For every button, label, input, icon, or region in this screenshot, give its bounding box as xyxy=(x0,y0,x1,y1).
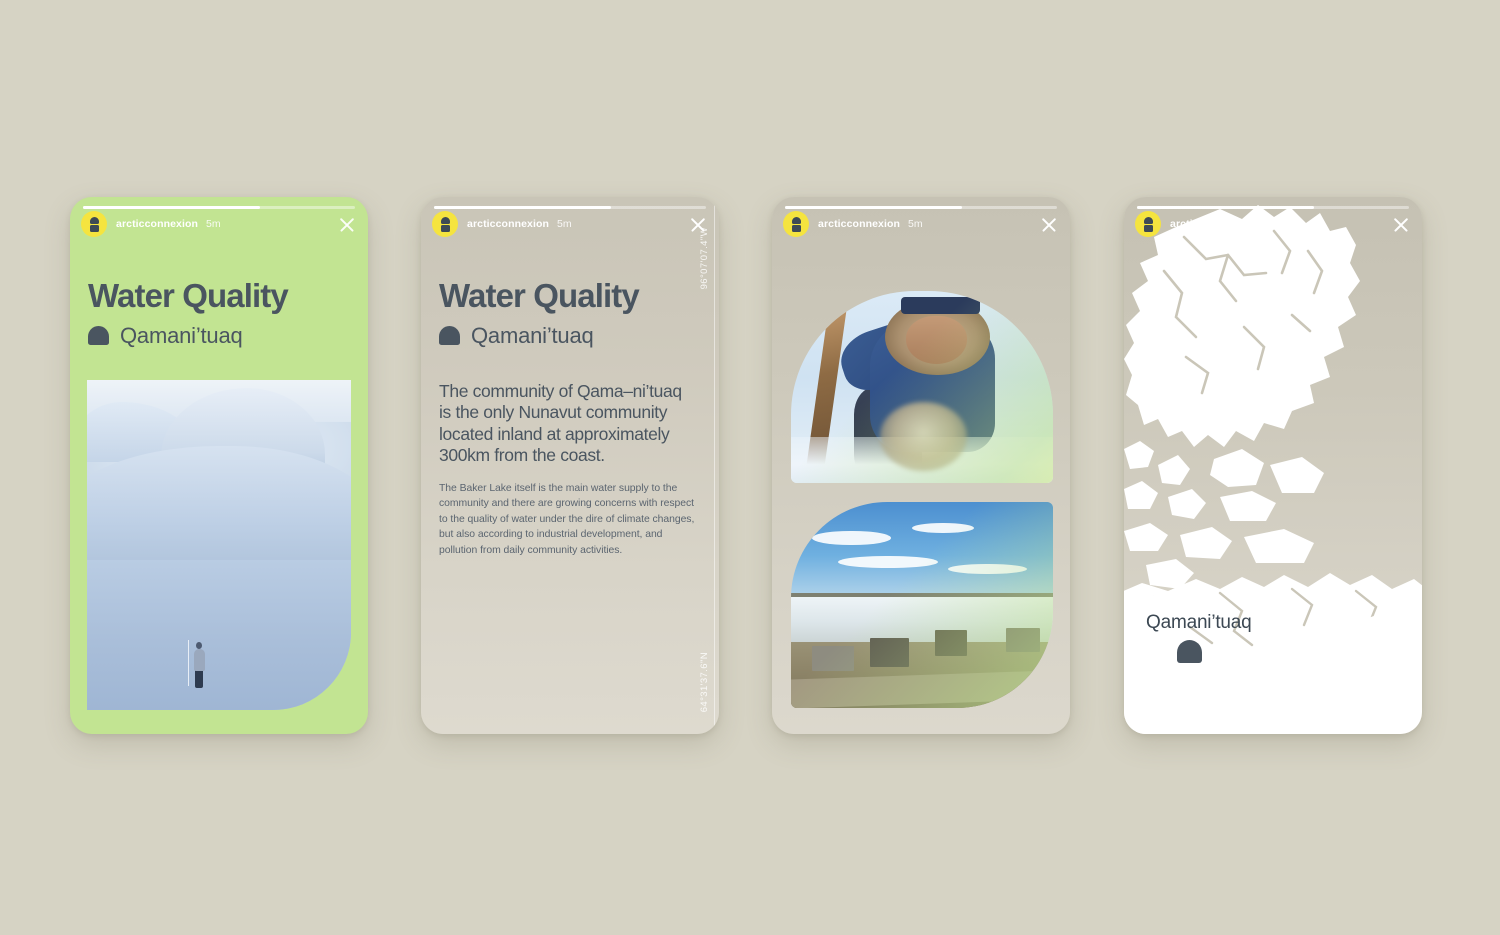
body-paragraph: The Baker Lake itself is the main water … xyxy=(439,481,701,558)
igloo-logo-glyph xyxy=(90,217,99,232)
account-handle[interactable]: arcticconnexion xyxy=(116,218,198,230)
igloo-logo-icon[interactable] xyxy=(783,211,809,237)
place-name: Qamani’tuaq xyxy=(471,323,594,349)
story-card-photos[interactable]: arcticconnexion 5m xyxy=(772,197,1070,734)
story-progress-bar[interactable] xyxy=(83,206,355,209)
place-row: Qamani’tuaq xyxy=(88,323,350,349)
page-title: Water Quality xyxy=(88,279,350,313)
igloo-logo-icon[interactable] xyxy=(432,211,458,237)
arctic-map xyxy=(1124,197,1422,734)
headline-block: Water Quality Qamani’tuaq xyxy=(88,279,350,349)
story-card-map[interactable]: arcticconnexion 5m Qamani’tuaq xyxy=(1124,197,1422,734)
story-progress-fill xyxy=(1137,206,1314,209)
story-header: arcticconnexion 5m xyxy=(1135,211,1411,237)
story-timestamp: 5m xyxy=(557,218,572,230)
photo-village xyxy=(791,502,1053,708)
place-row: Qamani’tuaq xyxy=(439,323,701,349)
location-marker-icon xyxy=(88,326,109,345)
latitude-label: 64°31'37.6"N xyxy=(699,652,710,712)
igloo-logo-glyph xyxy=(1144,217,1153,232)
story-card-text[interactable]: arcticconnexion 5m 96°07'07.4"W 64°31'37… xyxy=(421,197,719,734)
story-progress-fill xyxy=(83,206,260,209)
snow-landscape-illustration xyxy=(87,380,351,710)
account-handle[interactable]: arcticconnexion xyxy=(467,218,549,230)
story-timestamp: 5m xyxy=(908,218,923,230)
village-illustration xyxy=(791,502,1053,708)
account-handle[interactable]: arcticconnexion xyxy=(1170,218,1252,230)
story-header: arcticconnexion 5m xyxy=(432,211,708,237)
close-icon[interactable] xyxy=(688,214,708,234)
hunter-illustration xyxy=(791,291,1053,483)
story-header: arcticconnexion 5m xyxy=(783,211,1059,237)
headline-block: Water Quality Qamani’tuaq xyxy=(439,279,701,349)
story-progress-bar[interactable] xyxy=(785,206,1057,209)
location-marker-icon xyxy=(439,326,460,345)
map-place-label: Qamani’tuaq xyxy=(1146,612,1252,634)
igloo-logo-glyph xyxy=(792,217,801,232)
cover-photo xyxy=(87,380,351,710)
close-icon[interactable] xyxy=(337,214,357,234)
story-timestamp: 5m xyxy=(206,218,221,230)
igloo-logo-icon[interactable] xyxy=(81,211,107,237)
place-name: Qamani’tuaq xyxy=(120,323,243,349)
story-progress-bar[interactable] xyxy=(1137,206,1409,209)
story-timestamp: 5m xyxy=(1260,218,1275,230)
walking-person-figure xyxy=(193,640,206,688)
photo-hunter xyxy=(791,291,1053,483)
edge-rule xyxy=(714,197,715,734)
story-progress-bar[interactable] xyxy=(434,206,706,209)
igloo-logo-icon[interactable] xyxy=(1135,211,1161,237)
screen-canvas: arcticconnexion 5m Water Quality Qamani’… xyxy=(0,0,1500,935)
close-icon[interactable] xyxy=(1391,214,1411,234)
lede-paragraph: The community of Qama–ni’tuaq is the onl… xyxy=(439,381,695,466)
story-progress-fill xyxy=(785,206,962,209)
close-icon[interactable] xyxy=(1039,214,1059,234)
story-card-cover[interactable]: arcticconnexion 5m Water Quality Qamani’… xyxy=(70,197,368,734)
account-handle[interactable]: arcticconnexion xyxy=(818,218,900,230)
page-title: Water Quality xyxy=(439,279,701,313)
igloo-logo-glyph xyxy=(441,217,450,232)
story-progress-fill xyxy=(434,206,611,209)
story-header: arcticconnexion 5m xyxy=(81,211,357,237)
location-marker-icon xyxy=(1177,640,1202,663)
